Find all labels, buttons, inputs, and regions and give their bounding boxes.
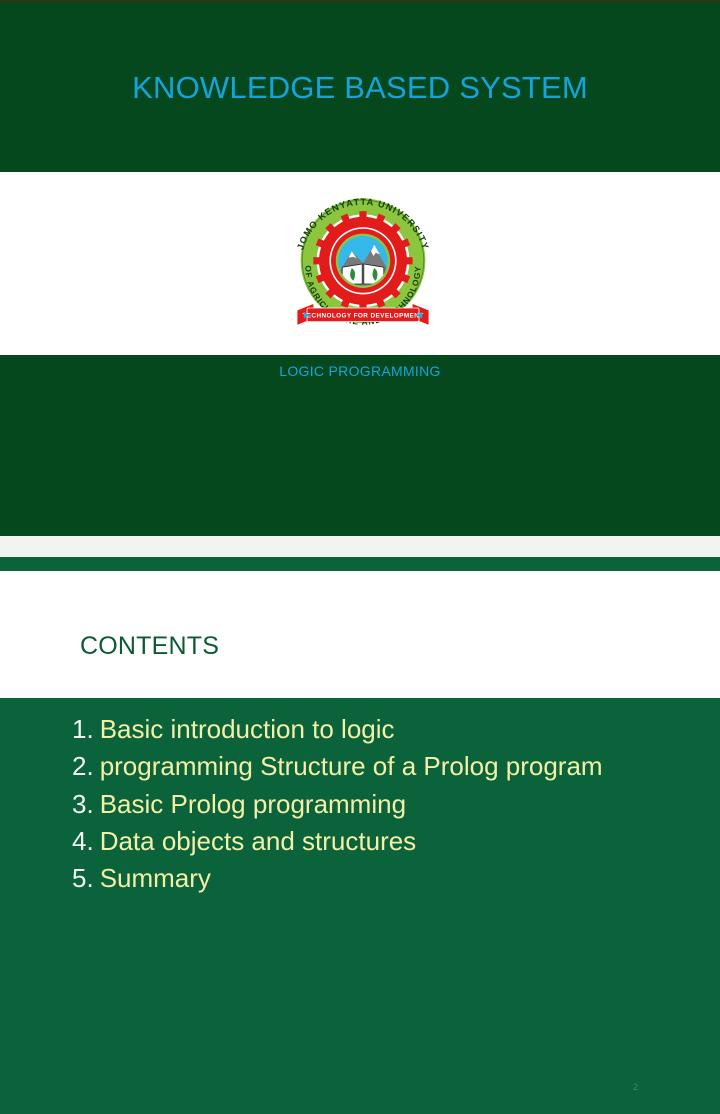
list-item-label: Basic Prolog programming [100, 787, 672, 821]
contents-heading: CONTENTS [80, 632, 219, 661]
contents-list: 1. Basic introduction to logic 2. progra… [72, 712, 672, 899]
jkuat-university-logo: JOMO KENYATTA UNIVERSITY OF AGRICULTURE … [283, 184, 443, 344]
list-item-label: Summary [100, 861, 672, 895]
list-item-number: 5. [72, 861, 94, 895]
title-slide: KNOWLEDGE BASED SYSTEM JOMO KENYATTA UNI… [0, 0, 720, 536]
contents-header-band: CONTENTS [0, 572, 716, 698]
presentation-deck: KNOWLEDGE BASED SYSTEM JOMO KENYATTA UNI… [0, 0, 720, 1114]
slide-subtitle: LOGIC PROGRAMMING [0, 363, 720, 379]
title-band: KNOWLEDGE BASED SYSTEM [0, 3, 720, 172]
list-item[interactable]: 2. programming Structure of a Prolog pro… [72, 749, 672, 783]
page-title: KNOWLEDGE BASED SYSTEM [132, 70, 588, 106]
contents-top-accent-bar [0, 557, 720, 571]
list-item-number: 3. [72, 787, 94, 821]
list-item-label: Basic introduction to logic [100, 712, 672, 746]
slide-separator-gap [0, 536, 720, 557]
page-number: 2 [633, 1082, 638, 1092]
list-item[interactable]: 3. Basic Prolog programming [72, 787, 672, 821]
subtitle-band: LOGIC PROGRAMMING [0, 355, 720, 536]
list-item[interactable]: 4. Data objects and structures [72, 824, 672, 858]
contents-body: 1. Basic introduction to logic 2. progra… [0, 698, 720, 1114]
list-item-label: programming Structure of a Prolog progra… [100, 749, 672, 783]
list-item[interactable]: 1. Basic introduction to logic [72, 712, 672, 746]
jkuat-logo-icon: JOMO KENYATTA UNIVERSITY OF AGRICULTURE … [283, 184, 443, 344]
list-item-number: 1. [72, 712, 94, 746]
list-item-number: 2. [72, 749, 94, 783]
list-item-number: 4. [72, 824, 94, 858]
list-item[interactable]: 5. Summary [72, 861, 672, 895]
contents-slide: CONTENTS 1. Basic introduction to logic … [0, 557, 720, 1114]
logo-banner-text: TECHNOLOGY FOR DEVELOPMENT [302, 312, 423, 319]
list-item-label: Data objects and structures [100, 824, 672, 858]
logo-band: JOMO KENYATTA UNIVERSITY OF AGRICULTURE … [0, 172, 720, 355]
